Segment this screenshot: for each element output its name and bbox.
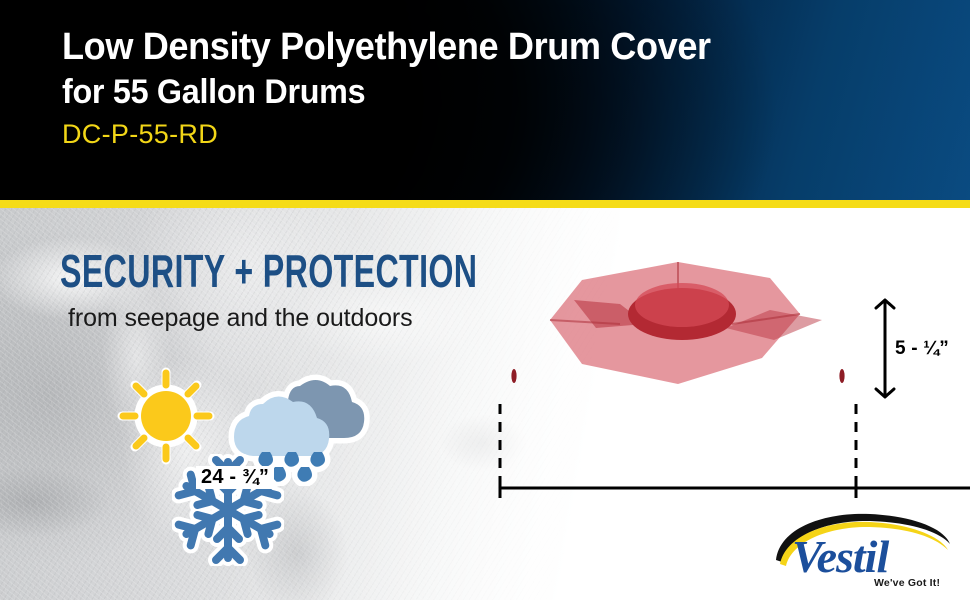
banner-header: Low Density Polyethylene Drum Cover for … <box>0 0 970 200</box>
product-title-line1: Low Density Polyethylene Drum Cover <box>62 24 898 70</box>
vestil-logo[interactable]: Vestil We've Got It! <box>770 510 956 592</box>
marketing-headline: SECURITY + PROTECTION <box>60 247 477 295</box>
dimension-label-width: 24 - ¾” <box>196 466 274 489</box>
logo-tagline-text: We've Got It! <box>874 577 940 589</box>
marketing-headline-block: SECURITY + PROTECTION from seepage and t… <box>60 247 656 335</box>
marketing-subheadline: from seepage and the outdoors <box>68 301 656 335</box>
title-block: Low Density Polyethylene Drum Cover for … <box>62 24 942 154</box>
product-title-line2: for 55 Gallon Drums <box>62 70 898 114</box>
product-model-number: DC-P-55-RD <box>62 114 942 154</box>
product-banner: Low Density Polyethylene Drum Cover for … <box>0 0 970 600</box>
yellow-divider <box>0 200 970 208</box>
logo-brand-text: Vestil <box>792 531 889 582</box>
dimension-label-height: 5 - ¼” <box>893 336 951 362</box>
